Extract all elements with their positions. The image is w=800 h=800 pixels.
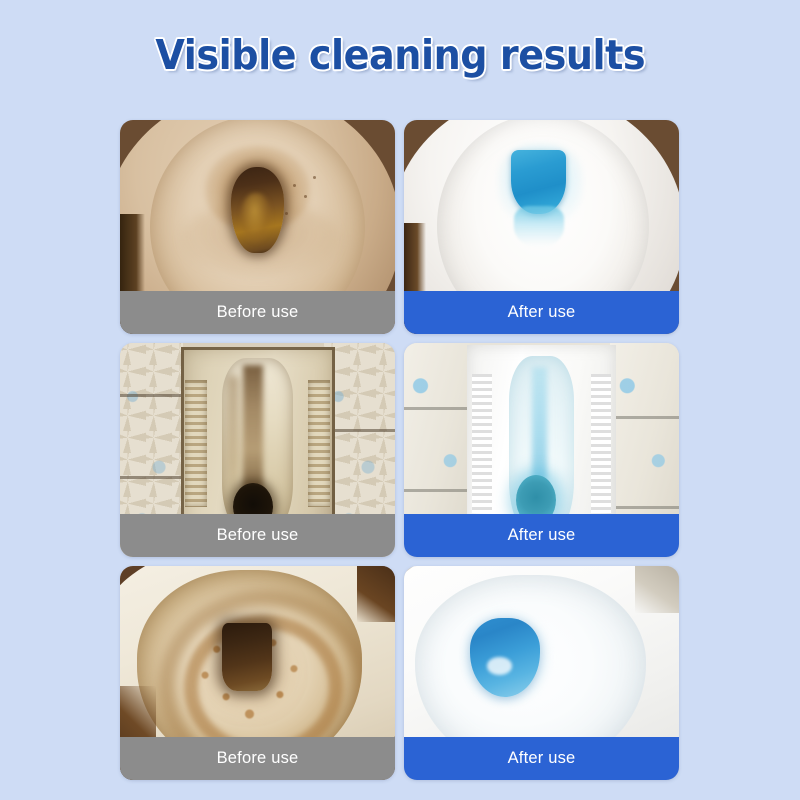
toilet-drain-hole xyxy=(222,623,272,691)
water-highlight xyxy=(487,657,512,675)
footrest-left xyxy=(472,374,493,512)
comparison-card-before-1[interactable]: Before use xyxy=(120,120,395,334)
photo-corner-shadow xyxy=(357,566,396,622)
blue-solution-streak xyxy=(532,367,546,481)
page-title: Visible cleaning results xyxy=(155,31,645,79)
grout-line xyxy=(404,407,470,410)
label-text: Before use xyxy=(217,749,299,768)
blue-cleaning-gel xyxy=(511,150,566,214)
footrest-right xyxy=(308,380,330,507)
comparison-grid: Before use After use xyxy=(120,120,680,780)
gel-drip xyxy=(514,206,564,249)
grout-line xyxy=(404,489,470,492)
label-before-use: Before use xyxy=(120,514,395,557)
label-after-use: After use xyxy=(404,514,679,557)
comparison-card-after-3[interactable]: After use xyxy=(404,566,679,780)
label-text: Before use xyxy=(217,526,299,545)
label-before-use: Before use xyxy=(120,737,395,780)
label-text: After use xyxy=(508,526,576,545)
comparison-row: Before use After use xyxy=(120,566,680,780)
footrest-left xyxy=(185,380,207,507)
grout-line xyxy=(610,416,679,419)
label-after-use: After use xyxy=(404,737,679,780)
label-after-use: After use xyxy=(404,291,679,334)
comparison-row: Before use Af xyxy=(120,343,680,557)
page-title-bar: Visible cleaning results xyxy=(0,0,800,110)
rust-stain-secondary xyxy=(228,376,239,503)
comparison-card-before-2[interactable]: Before use xyxy=(120,343,395,557)
label-text: After use xyxy=(508,303,576,322)
grout-line xyxy=(120,394,183,397)
grime-speck xyxy=(313,176,316,179)
label-text: Before use xyxy=(217,303,299,322)
label-before-use: Before use xyxy=(120,291,395,334)
label-text: After use xyxy=(508,749,576,768)
photo-corner-shadow xyxy=(635,566,679,613)
comparison-card-after-2[interactable]: After use xyxy=(404,343,679,557)
comparison-card-before-3[interactable]: Before use xyxy=(120,566,395,780)
grout-line xyxy=(120,476,183,479)
toilet-drain-hole xyxy=(231,167,283,253)
comparison-card-after-1[interactable]: After use xyxy=(404,120,679,334)
comparison-row: Before use After use xyxy=(120,120,680,334)
footrest-right xyxy=(591,374,612,512)
grime-speck xyxy=(285,212,288,215)
grout-line xyxy=(610,506,679,509)
